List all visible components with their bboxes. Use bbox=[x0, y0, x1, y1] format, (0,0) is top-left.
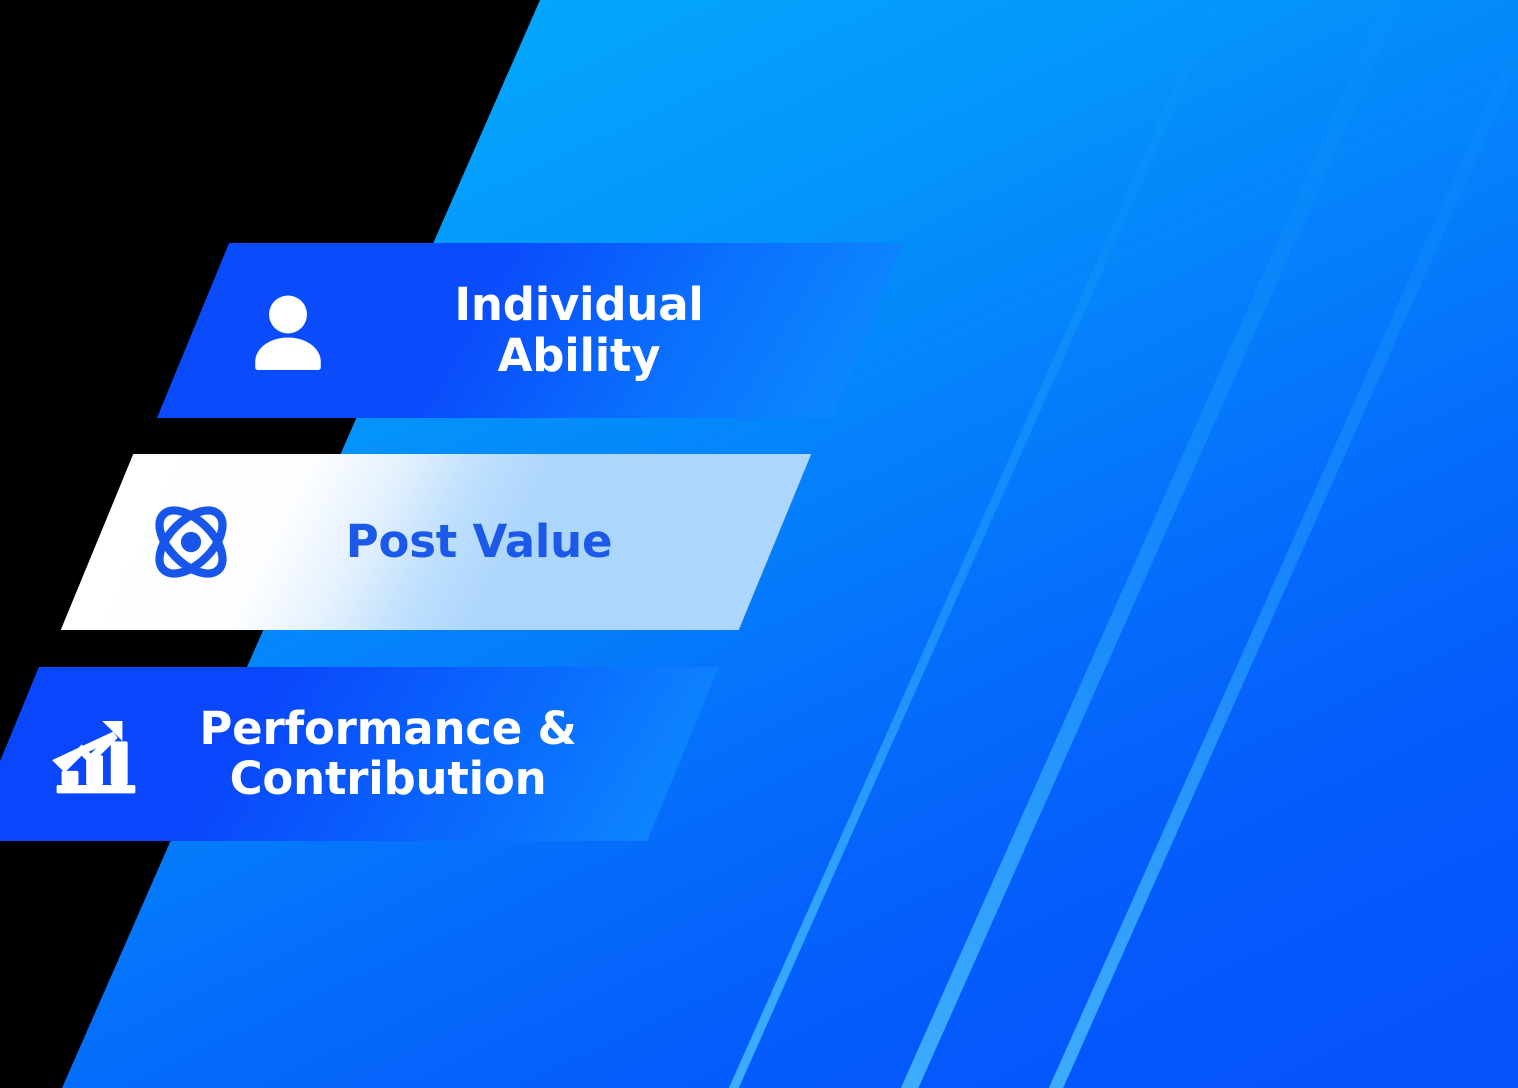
banner-performance-contribution-content: Performance & Contribution bbox=[3, 667, 683, 841]
banner-post-value[interactable]: Post Value bbox=[97, 454, 775, 630]
graphic-canvas: Individual Ability Post Value bbox=[0, 0, 1518, 1088]
banner-individual-ability-content: Individual Ability bbox=[193, 243, 868, 418]
person-icon bbox=[193, 243, 383, 418]
bar-chart-growth-icon bbox=[3, 667, 188, 841]
banner-performance-contribution[interactable]: Performance & Contribution bbox=[3, 667, 683, 841]
banner-individual-ability-label: Individual Ability bbox=[389, 280, 769, 381]
atom-icon bbox=[97, 454, 285, 630]
banner-post-value-label: Post Value bbox=[289, 517, 669, 567]
banner-individual-ability[interactable]: Individual Ability bbox=[193, 243, 868, 418]
banner-performance-contribution-label: Performance & Contribution bbox=[188, 704, 588, 805]
banner-post-value-content: Post Value bbox=[97, 454, 775, 630]
